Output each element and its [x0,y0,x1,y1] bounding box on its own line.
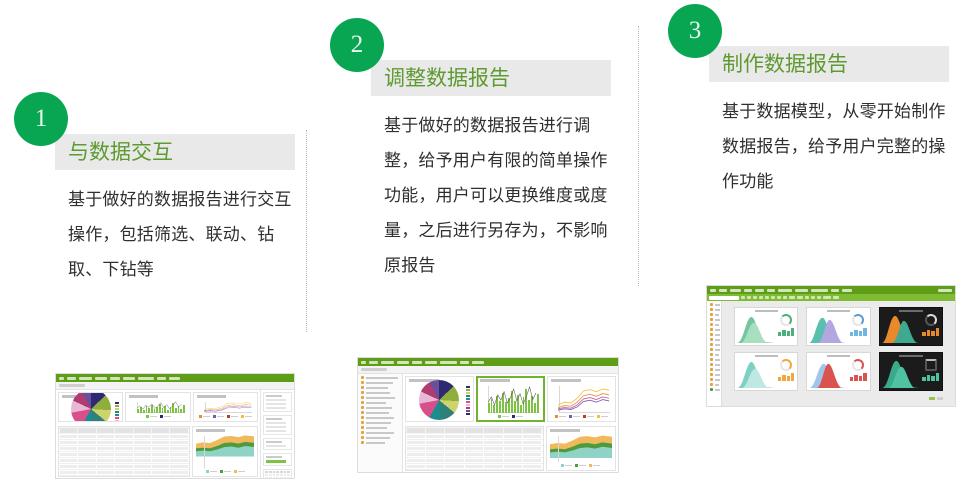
menu-item [425,361,437,364]
resource-catalog-tree[interactable] [707,301,722,406]
calendar-picker[interactable] [263,469,292,479]
menu-item [730,289,741,292]
multiline-chart-card[interactable] [547,376,616,422]
card-side [849,358,868,388]
pie-legend [115,402,119,422]
page-indicator[interactable] [929,397,935,400]
card-body [735,313,797,345]
hill-chart [737,313,775,343]
thumb2-filterbar [358,366,618,374]
legend-swatch [115,411,119,413]
line-series-group [557,385,610,412]
menu-item [472,361,484,364]
report-card-dark[interactable] [879,352,943,391]
line-overlay [135,401,184,412]
multiline-chart-card[interactable] [193,392,258,422]
thumb1-row-top [56,390,260,424]
mini-bars [849,327,868,336]
detail-table-card[interactable] [405,426,544,472]
line-series-group [203,401,252,412]
menu-item [397,361,409,364]
tree-node[interactable] [359,431,401,434]
step-number-badge-1: 1 [14,92,68,146]
legend-swatch [115,414,119,416]
thumb2-row-bottom [403,424,619,474]
gauge-icon [852,359,864,371]
tree-node[interactable] [359,406,401,409]
tree-node[interactable] [359,381,401,384]
chart-legend [551,415,612,418]
tree-node[interactable] [359,391,401,394]
report-card-dark[interactable] [879,307,943,346]
legend-swatch [115,405,119,407]
menu-icon [361,361,366,364]
tree-node[interactable] [708,313,720,316]
bar-line-plot [480,383,541,418]
tree-node[interactable] [708,368,720,371]
menu-item [767,289,775,292]
chart-legend [129,415,186,418]
report-card[interactable] [734,307,798,346]
card-title [550,429,581,432]
tree-node[interactable] [359,411,401,414]
menu-item [744,289,752,292]
thumb1-menubar [56,374,294,382]
filter-group-product[interactable] [263,392,292,412]
toolbar-icon[interactable] [805,296,809,299]
mini-bars [921,372,940,381]
card-side [777,358,796,388]
menu-item [138,377,154,380]
gauge-icon [780,314,792,326]
card-title [899,355,923,357]
mini-bars [921,327,940,336]
legend-swatch [115,402,119,404]
pie-chart-card[interactable] [58,392,123,422]
menu-item [811,289,828,292]
thumb2-canvas [403,374,619,473]
menu-item [110,377,120,380]
report-template-grid [722,301,955,406]
report-card[interactable] [806,307,870,346]
kpi-tile-icon [925,359,937,371]
tree-node[interactable] [708,378,720,381]
column-heading-1: 与数据交互 [68,137,303,169]
chart-legend [197,415,254,418]
tree-node[interactable] [708,383,720,386]
tree-node[interactable] [708,363,720,366]
legend-swatch [115,408,119,410]
resource-tree[interactable] [358,374,403,473]
tree-node[interactable] [708,308,720,311]
chart-legend [550,464,613,467]
filter-rail[interactable] [260,390,294,479]
card-body [807,358,869,390]
toolbar-icon[interactable] [771,296,775,299]
thumb1-breadcrumb [56,382,294,390]
toolbar-icon[interactable] [777,296,781,299]
column-heading-3: 制作数据报告 [722,49,957,81]
tree-node[interactable] [359,386,401,389]
column-body-3: 基于数据模型，从零开始制作数据报告，给予用户完整的操作功能 [722,94,958,199]
card-side [849,313,868,343]
gauge-icon [780,359,792,371]
app-logo-icon [710,289,716,292]
tree-node[interactable] [708,328,720,331]
toolbar-icon[interactable] [817,296,821,299]
tree-node[interactable] [359,396,401,399]
bar-line-chart-card-selected[interactable] [476,376,545,422]
thumb2-body [358,374,618,473]
toolbar-icon[interactable] [789,296,795,299]
toolbar-icon[interactable] [823,296,831,299]
card-title [480,379,510,382]
mini-bars [777,327,796,336]
area-chart-card[interactable] [546,426,617,472]
toolbar-icon[interactable] [833,296,839,299]
tree-node[interactable] [708,323,720,326]
detail-table [59,427,189,476]
bar-line-chart-card[interactable] [125,392,190,422]
dashboard-thumbnail-2[interactable] [357,357,619,473]
table-row [406,464,543,470]
gauge-icon [925,314,937,326]
hill-chart [809,358,847,388]
card-title [827,355,851,357]
step-number-badge-3: 3 [668,4,722,58]
tree-node[interactable] [708,388,720,391]
menu-item [795,289,808,292]
filter-chip [361,368,387,371]
menu-item [719,289,727,292]
detail-table-card[interactable] [58,426,190,477]
pie-chart [71,392,111,422]
table-row [59,470,189,476]
filter-group-region[interactable] [263,415,292,435]
toolbar-icon[interactable] [783,296,787,299]
menu-item [67,377,76,380]
tree-node[interactable] [359,441,401,444]
card-side [777,313,796,343]
tree-node[interactable] [708,358,720,361]
table-header-row [406,427,543,434]
pie-chart-card[interactable] [405,376,474,422]
thumb3-body [707,301,955,406]
y-axis [558,436,559,463]
thumb3-menubar [707,286,955,294]
card-body [807,313,869,345]
menu-icon [59,377,64,380]
hill-chart [882,358,920,388]
pagination[interactable] [734,397,943,400]
column-body-2: 基于做好的数据报告进行调整，给予用户有限的简单操作功能，用户可以更换维度或度量，… [384,108,620,283]
report-card[interactable] [734,352,798,391]
tree-node[interactable] [708,353,720,356]
column-divider-1 [306,130,307,332]
tree-node[interactable] [359,376,401,379]
card-side [921,313,940,343]
card-body [880,313,942,345]
thumb1-body [56,390,294,479]
menu-item [123,377,135,380]
filter-slider[interactable] [263,453,292,466]
tree-node[interactable] [359,401,401,404]
card-body [735,358,797,390]
menu-item [460,361,469,364]
card-title [196,429,225,432]
x-axis [559,412,610,413]
pie-chart [419,380,459,420]
path-input[interactable] [709,296,739,300]
y-axis [204,436,205,468]
detail-table [406,427,543,471]
menu-item [369,361,378,364]
menu-item [412,361,422,364]
toolbar-icon[interactable] [759,296,763,299]
card-body [880,358,942,390]
menu-item [169,377,180,380]
tree-node[interactable] [708,318,720,321]
card-title [755,355,779,357]
pie-plot [409,383,470,418]
toolbar-icon[interactable] [747,296,751,299]
area-plot [550,433,613,468]
tree-node[interactable] [708,348,720,351]
menu-item [778,289,792,292]
toolbar-icon[interactable] [765,296,769,299]
filter-group-channel[interactable] [263,438,292,450]
card-title [827,310,851,312]
menu-item [831,289,839,292]
tree-node[interactable] [359,416,401,419]
tree-node[interactable] [708,338,720,341]
table-header-row [59,427,189,434]
area-series [550,433,613,458]
hill-chart [809,313,847,343]
multiline-plot [551,383,612,418]
report-card[interactable] [806,352,870,391]
user-account-item[interactable] [938,289,952,292]
bar-line-plot [129,399,186,418]
menu-item [440,361,457,364]
thumb3-toolbar[interactable] [707,294,955,301]
card-side [921,358,940,388]
card-title [755,310,779,312]
menu-item [79,377,92,380]
chart-legend [196,470,255,473]
card-title [129,395,158,398]
tree-node[interactable] [359,426,401,429]
mini-bars [777,372,796,381]
dashboard-thumbnail-1[interactable] [55,373,295,479]
hill-chart [882,313,920,343]
breadcrumb-chip [59,384,85,387]
menu-item [842,289,852,292]
page-indicator[interactable] [937,397,943,400]
tree-node[interactable] [708,303,720,306]
tree-node[interactable] [359,436,401,439]
toolbar-icon[interactable] [811,296,815,299]
tree-node[interactable] [708,343,720,346]
column-divider-2 [638,26,639,286]
x-axis [205,412,252,413]
hill-chart [737,358,775,388]
card-title [197,395,226,398]
menu-item [157,377,166,380]
toolbar-icon[interactable] [797,296,803,299]
thumb2-row-top [403,374,619,424]
step-number-badge-2: 2 [330,18,384,72]
chart-legend [480,415,541,418]
thumb1-canvas [56,390,260,479]
mini-bars [849,372,868,381]
gauge-icon [852,314,864,326]
report-gallery-thumbnail-3[interactable] [706,285,956,407]
card-title [551,379,581,382]
menu-item [755,289,764,292]
tree-node[interactable] [359,421,401,424]
multiline-plot [197,399,254,418]
pie-legend [466,386,470,415]
legend-swatch [115,417,119,419]
line-overlay [486,385,539,412]
toolbar-icon[interactable] [753,296,757,299]
column-heading-2: 调整数据报告 [384,63,619,95]
thumb1-row-bottom [56,424,260,479]
slide-canvas: 1 与数据交互 基于做好的数据报告进行交互操作，包括筛选、联动、钻取、下钻等 [0,0,965,488]
card-title [899,310,923,312]
toolbar-icon[interactable] [741,296,745,299]
menu-item [381,361,394,364]
pie-plot [62,399,119,418]
legend-swatch [115,420,119,422]
area-plot [196,433,255,473]
area-chart-card[interactable] [192,426,259,477]
tree-node[interactable] [708,373,720,376]
column-body-1: 基于做好的数据报告进行交互操作，包括筛选、联动、钻取、下钻等 [68,182,304,287]
thumb2-menubar [358,358,618,366]
tree-node[interactable] [708,333,720,336]
menu-item [95,377,107,380]
